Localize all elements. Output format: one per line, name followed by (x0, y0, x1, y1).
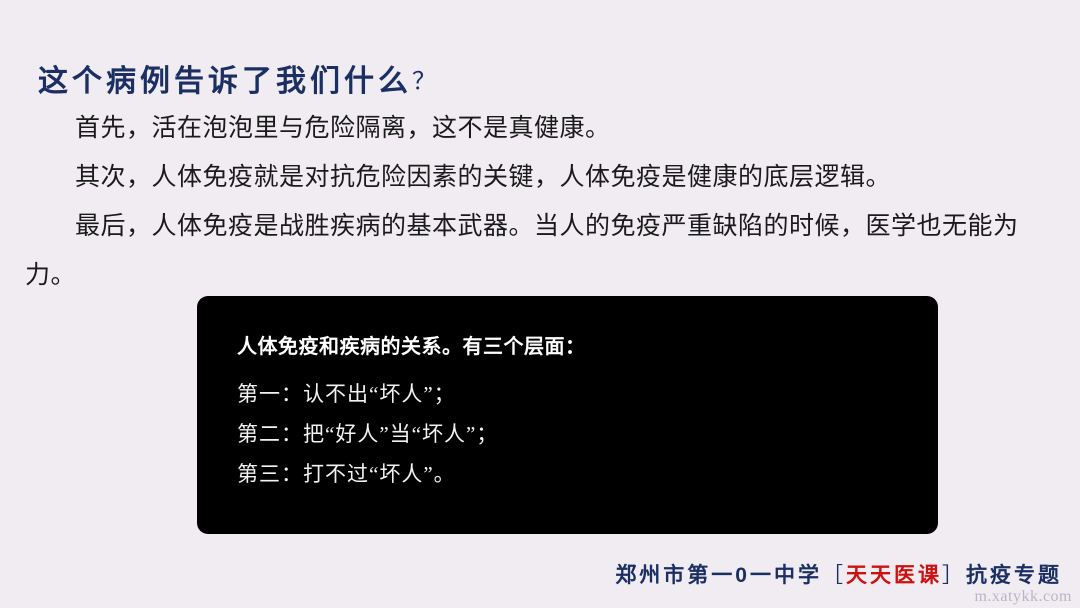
body-text-block: 首先，活在泡泡里与危险隔离，这不是真健康。 其次，人体免疫就是对抗危险因素的关键… (25, 104, 1055, 300)
footer-credit: 郑州市第一0一中学［天天医课］抗疫专题 (615, 562, 1062, 590)
slide-canvas: 这个病例告诉了我们什么？ 首先，活在泡泡里与危险隔离，这不是真健康。 其次，人体… (0, 0, 1080, 608)
callout-list-item: 第二：把“好人”当“坏人”； (237, 414, 898, 454)
footer-school-name: 郑州市第一0一中学 (615, 564, 822, 587)
body-paragraph-3: 最后，人体免疫是战胜疾病的基本武器。当人的免疫严重缺陷的时候，医学也无能为力。 (25, 202, 1055, 300)
footer-bracket-close: ］ (942, 564, 966, 587)
callout-box: 人体免疫和疾病的关系。有三个层面： 第一：认不出“坏人”； 第二：把“好人”当“… (197, 296, 938, 534)
footer-brand-name: 天天医课 (846, 564, 942, 587)
page-title-text: 这个病例告诉了我们什么 (38, 65, 412, 98)
footer-series-name: 抗疫专题 (966, 564, 1062, 587)
callout-list-item: 第一：认不出“坏人”； (237, 374, 898, 414)
body-paragraph-2: 其次，人体免疫就是对抗危险因素的关键，人体免疫是健康的底层逻辑。 (25, 153, 1055, 202)
callout-heading: 人体免疫和疾病的关系。有三个层面： (237, 332, 898, 362)
footer-bracket-open: ［ (822, 564, 846, 587)
page-title-question-mark: ？ (412, 69, 436, 95)
watermark: m.xatykk.com (974, 588, 1072, 606)
callout-list: 第一：认不出“坏人”； 第二：把“好人”当“坏人”； 第三：打不过“坏人”。 (237, 374, 898, 494)
callout-list-item: 第三：打不过“坏人”。 (237, 454, 898, 494)
page-title: 这个病例告诉了我们什么？ (38, 62, 436, 102)
body-paragraph-1: 首先，活在泡泡里与危险隔离，这不是真健康。 (25, 104, 1055, 153)
